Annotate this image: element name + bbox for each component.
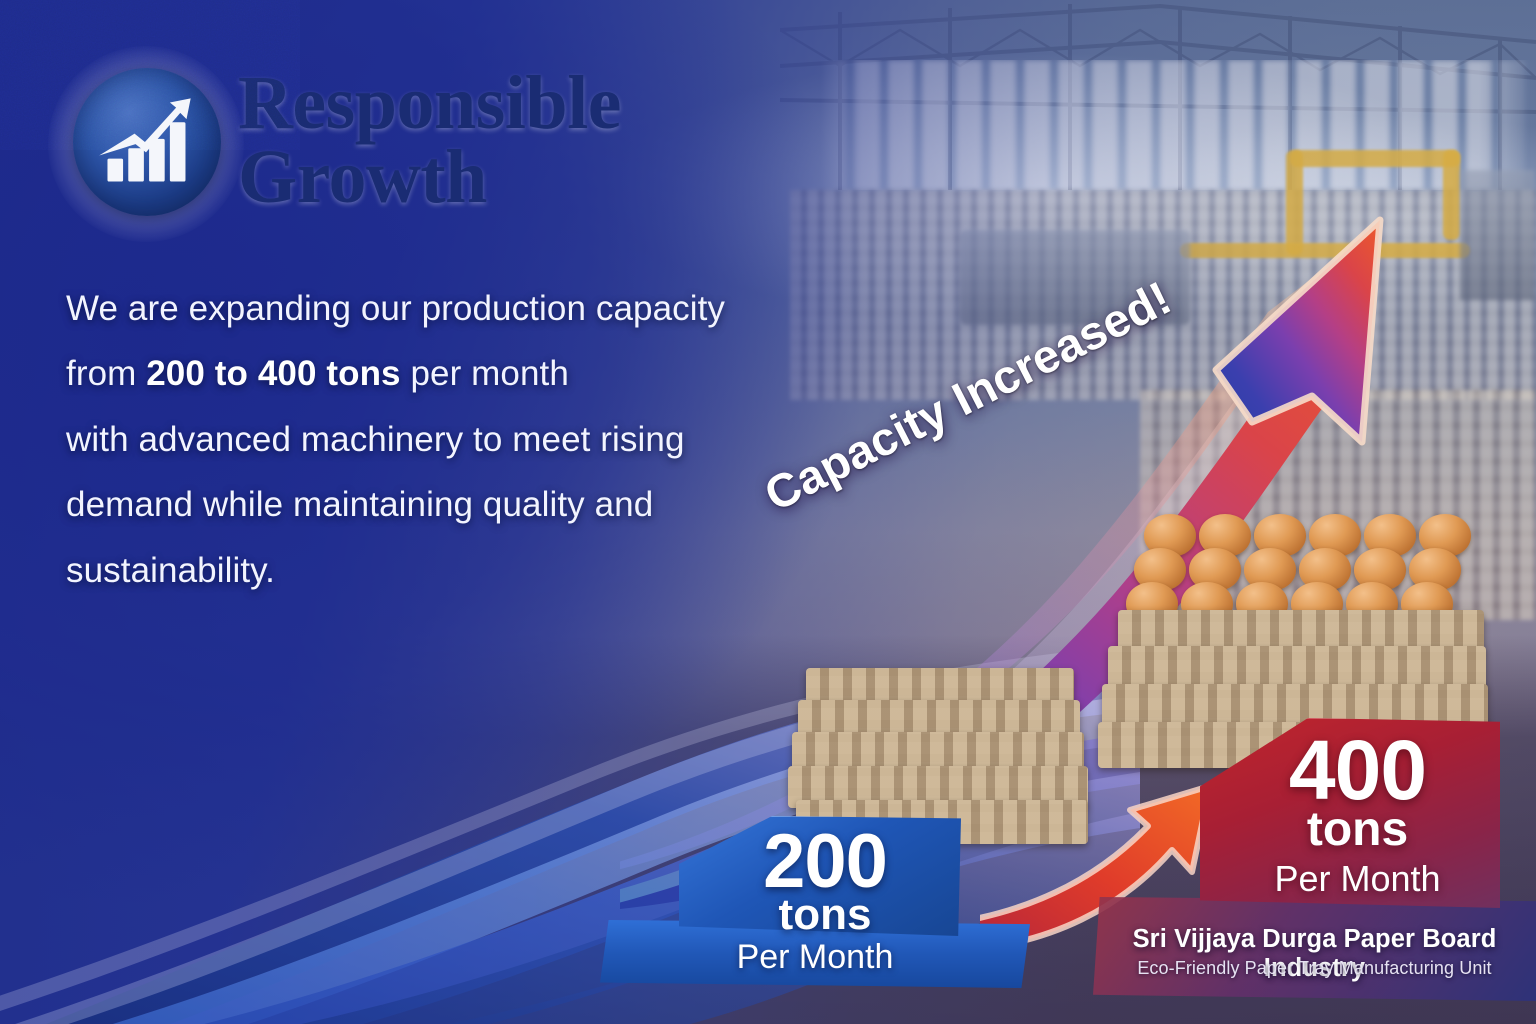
company-logo-badge: [73, 68, 221, 216]
body-line-2-suffix: per month: [401, 354, 569, 393]
capacity-after-value: 400: [1215, 728, 1500, 812]
page-title: Responsible Growth: [238, 66, 938, 215]
headline-line-1: Responsible: [238, 61, 621, 145]
capacity-after-unit: tons: [1215, 806, 1500, 854]
capacity-after-period: Per Month: [1215, 858, 1500, 900]
capacity-before-unit: tons: [700, 893, 950, 937]
body-line-2-prefix: from: [66, 354, 146, 393]
growth-bar-chart-arrow-icon: [95, 90, 199, 194]
headline-line-2: Growth: [238, 140, 938, 214]
responsible-growth-poster: Responsible Growth We are expanding our …: [0, 0, 1536, 1024]
company-tagline: Eco-Friendly Paper Tray Manufacturing Un…: [1093, 958, 1536, 979]
capacity-before-value: 200: [700, 824, 950, 900]
body-line-2-highlight: 200 to 400 tons: [146, 354, 400, 393]
capacity-before-period: Per Month: [610, 938, 1020, 977]
